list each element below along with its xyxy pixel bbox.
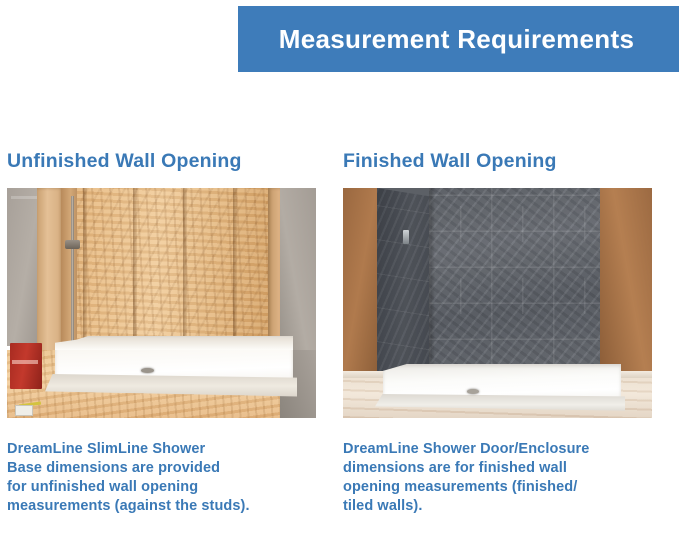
caption-line: opening measurements (finished/ bbox=[343, 478, 663, 497]
section-heading-unfinished: Unfinished Wall Opening bbox=[7, 150, 327, 172]
caption-line: tiled walls). bbox=[343, 497, 663, 516]
caption-line: DreamLine SlimLine Shower bbox=[7, 440, 327, 459]
tiled-shower-walls bbox=[377, 188, 600, 376]
caption-unfinished: DreamLine SlimLine Shower Base dimension… bbox=[7, 440, 327, 516]
plumbing-pipe bbox=[71, 196, 74, 356]
gray-wall-left bbox=[7, 188, 41, 346]
tan-wall-right bbox=[600, 188, 652, 384]
drain-icon bbox=[141, 368, 154, 373]
header-banner: Measurement Requirements bbox=[238, 6, 679, 72]
stud-shadow-line bbox=[83, 188, 87, 360]
column-finished-wall-opening: Finished Wall Opening DreamLine Shower D… bbox=[343, 150, 663, 516]
shower-base-apron bbox=[375, 394, 625, 418]
tiled-back-wall bbox=[429, 188, 600, 376]
caption-line: Base dimensions are provided bbox=[7, 459, 327, 478]
drain-icon bbox=[467, 389, 479, 394]
photo-unfinished-wall-opening bbox=[7, 188, 316, 418]
caption-finished: DreamLine Shower Door/Enclosure dimensio… bbox=[343, 440, 663, 516]
column-unfinished-wall-opening: Unfinished Wall Opening bbox=[7, 150, 327, 516]
photo-finished-wall-opening bbox=[343, 188, 652, 418]
section-heading-finished: Finished Wall Opening bbox=[343, 150, 663, 172]
finished-wall-scene bbox=[343, 188, 652, 418]
stud-shadow-line bbox=[233, 188, 237, 360]
stud-shadow-line bbox=[133, 188, 137, 360]
red-tool-box bbox=[10, 343, 42, 389]
unfinished-wall-scene bbox=[7, 188, 316, 418]
tan-wall-left bbox=[343, 188, 377, 378]
shower-base-back-lip bbox=[55, 338, 293, 350]
caption-line: DreamLine Shower Door/Enclosure bbox=[343, 440, 663, 459]
pipe-fitting bbox=[65, 240, 80, 249]
caption-line: dimensions are for finished wall bbox=[343, 459, 663, 478]
caption-line: measurements (against the studs). bbox=[7, 497, 327, 516]
shower-base-finished bbox=[375, 364, 621, 416]
stud-shadow-line bbox=[183, 188, 187, 360]
page-title: Measurement Requirements bbox=[279, 24, 638, 55]
shower-fixture-icon bbox=[403, 230, 409, 244]
wall-corner-shadow bbox=[429, 188, 435, 376]
shower-base-apron bbox=[45, 374, 297, 404]
tiled-side-wall bbox=[377, 188, 429, 376]
paper-on-floor bbox=[15, 405, 33, 416]
caption-line: for unfinished wall opening bbox=[7, 478, 327, 497]
shower-base-unfinished bbox=[45, 336, 293, 408]
